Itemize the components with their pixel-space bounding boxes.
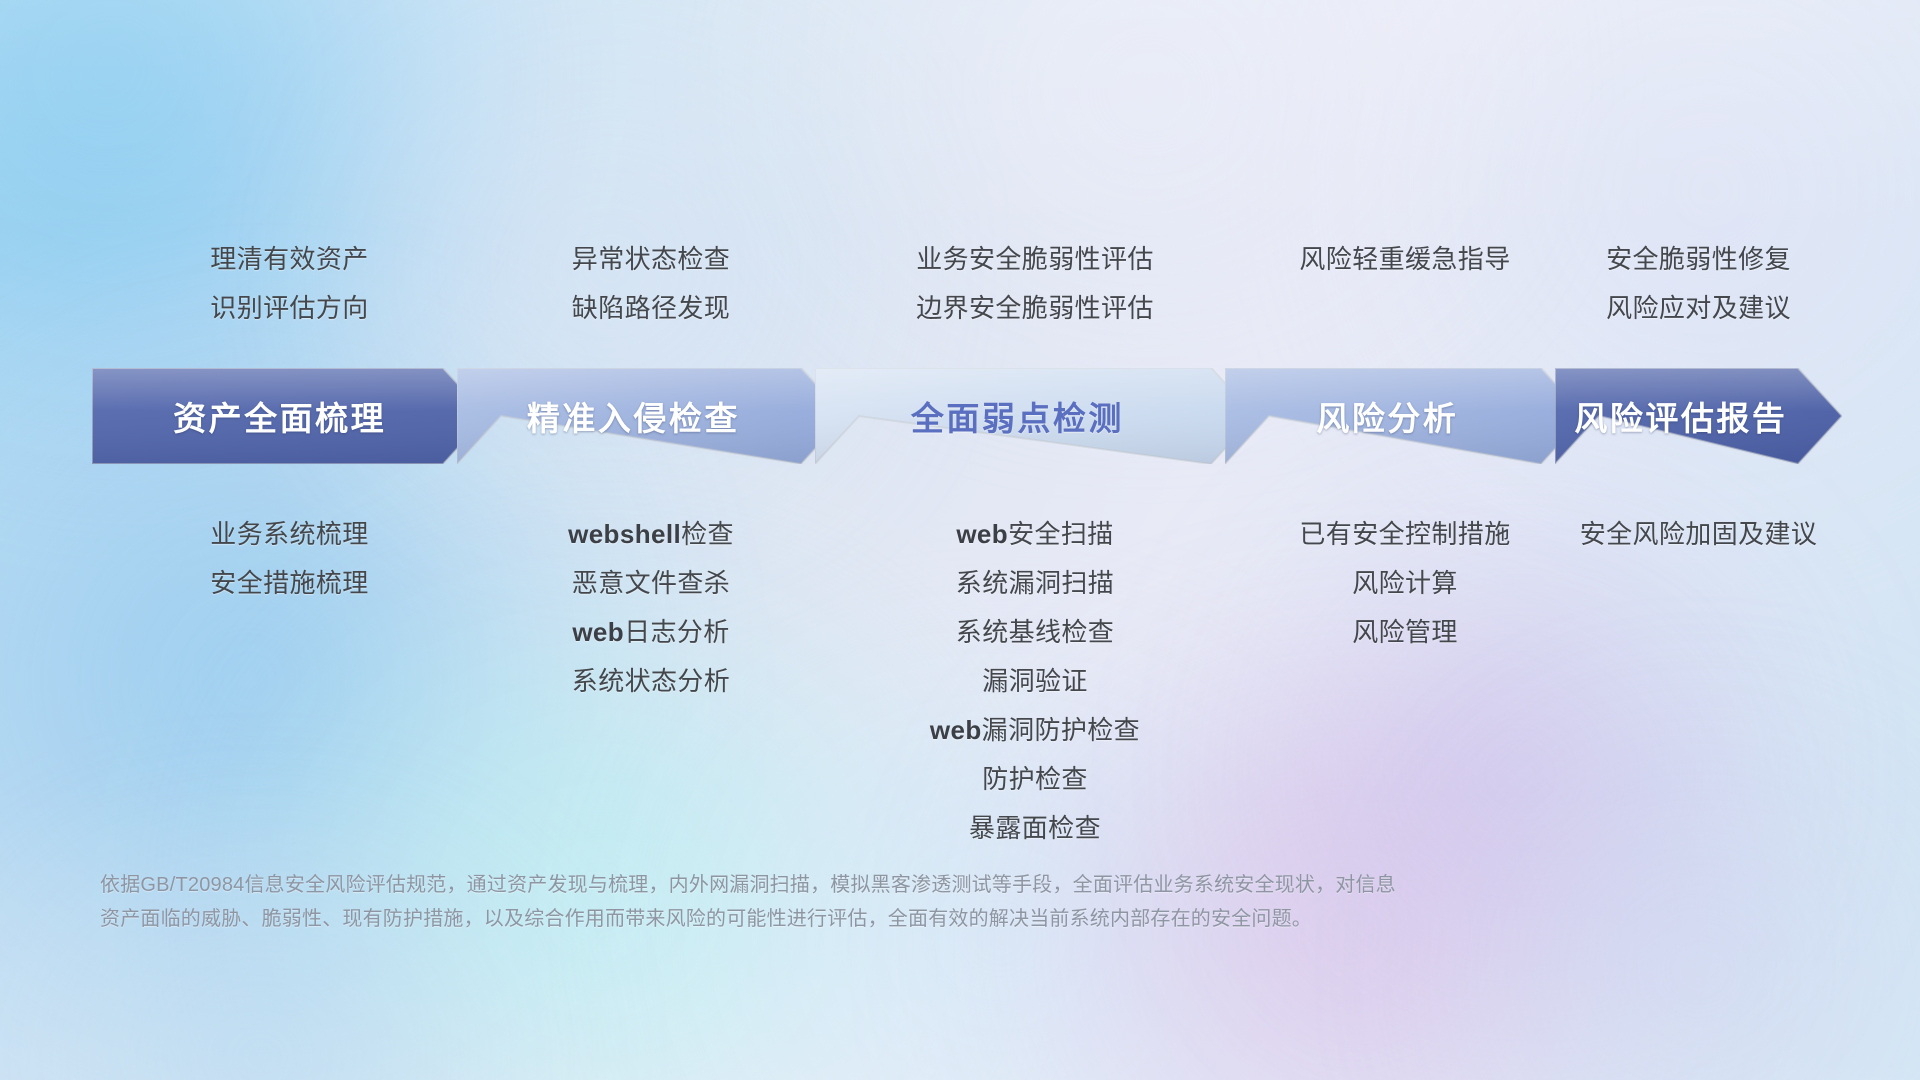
output-item: 业务系统梳理 <box>210 510 368 559</box>
input-item: 安全脆弱性修复 <box>1606 235 1791 284</box>
chevron-stage-risk-report[interactable]: 风险评估报告 <box>1555 368 1842 464</box>
slide-content: 理清有效资产识别评估方向异常状态检查缺陷路径发现业务安全脆弱性评估边界安全脆弱性… <box>0 0 1920 1080</box>
output-item: web日志分析 <box>572 608 729 657</box>
chevron-label: 全面弱点检测 <box>911 392 1124 440</box>
output-item-emphasis: web <box>572 617 624 647</box>
chevron-stage-asset-inventory[interactable]: 资产全面梳理 <box>92 368 487 464</box>
input-item: 缺陷路径发现 <box>572 284 730 333</box>
output-item: 安全风险加固及建议 <box>1580 510 1818 559</box>
input-item: 理清有效资产 <box>210 235 368 284</box>
output-item: 安全措施梳理 <box>210 559 368 608</box>
chevron-label: 精准入侵检查 <box>527 392 740 440</box>
output-item-text: 检查 <box>681 519 734 549</box>
output-item: web漏洞防护检查 <box>930 706 1140 755</box>
footnote-caption: 依据GB/T20984信息安全风险评估规范，通过资产发现与梳理，内外网漏洞扫描，… <box>100 868 1620 936</box>
process-chevron-band: 资产全面梳理精准入侵检查全面弱点检测风险分析风险评估报告 <box>92 368 1842 464</box>
caption-line-1: 依据GB/T20984信息安全风险评估规范，通过资产发现与梳理，内外网漏洞扫描，… <box>100 868 1620 902</box>
input-item: 异常状态检查 <box>572 235 730 284</box>
output-item: web安全扫描 <box>956 510 1113 559</box>
output-item: 风险管理 <box>1352 608 1458 657</box>
chevron-stage-risk-analysis[interactable]: 风险分析 <box>1225 368 1585 464</box>
output-item-emphasis: web <box>956 519 1008 549</box>
output-item-text: 安全扫描 <box>1008 519 1114 549</box>
output-item: 防护检查 <box>982 755 1088 804</box>
output-item: webshell检查 <box>568 510 734 559</box>
input-item: 业务安全脆弱性评估 <box>916 235 1154 284</box>
output-item-text: 漏洞防护检查 <box>982 715 1140 745</box>
output-item: 风险计算 <box>1352 559 1458 608</box>
input-item: 风险应对及建议 <box>1606 284 1791 333</box>
output-item-text: 日志分析 <box>624 617 730 647</box>
stage-inputs-risk-report: 安全脆弱性修复风险应对及建议 <box>1439 235 1920 333</box>
chevron-label: 风险分析 <box>1316 392 1458 440</box>
output-item: 恶意文件查杀 <box>572 559 730 608</box>
output-item: 漏洞验证 <box>982 657 1088 706</box>
input-item: 识别评估方向 <box>210 284 368 333</box>
output-item: 系统状态分析 <box>572 657 730 706</box>
output-item-emphasis: web <box>930 715 982 745</box>
stage-outputs-risk-report: 安全风险加固及建议 <box>1439 510 1920 559</box>
output-item-emphasis: webshell <box>568 519 681 549</box>
chevron-stage-weakness-detection[interactable]: 全面弱点检测 <box>815 368 1255 464</box>
output-item: 暴露面检查 <box>969 804 1101 853</box>
output-item: 系统基线检查 <box>956 608 1114 657</box>
input-item: 边界安全脆弱性评估 <box>916 284 1154 333</box>
chevron-stage-intrusion-check[interactable]: 精准入侵检查 <box>457 368 845 464</box>
chevron-label: 风险评估报告 <box>1574 392 1787 440</box>
output-item: 系统漏洞扫描 <box>956 559 1114 608</box>
caption-line-2: 资产面临的威胁、脆弱性、现有防护措施，以及综合作用而带来风险的可能性进行评估，全… <box>100 902 1620 936</box>
chevron-label: 资产全面梳理 <box>173 392 386 440</box>
